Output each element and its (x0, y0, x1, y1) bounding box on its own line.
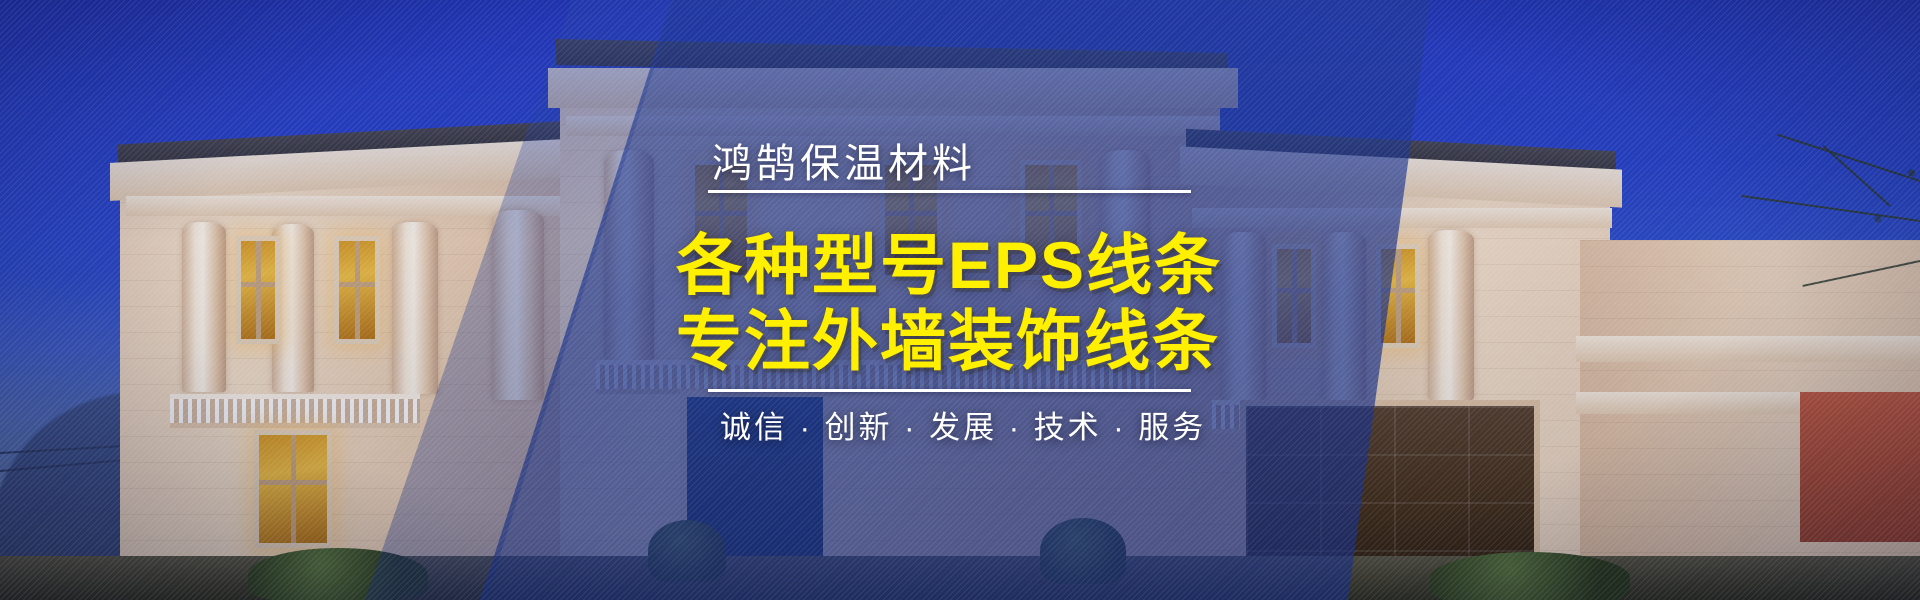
banner-content: 鸿鹄保温材料 各种型号EPS线条 专注外墙装饰线条 诚信 · 创新 · 发展 ·… (0, 0, 1920, 600)
tagline: 诚信 · 创新 · 发展 · 技术 · 服务 (720, 402, 1206, 447)
divider-top (708, 190, 1191, 193)
divider-bottom (708, 389, 1191, 392)
hero-banner: 鸿鹄保温材料 各种型号EPS线条 专注外墙装饰线条 诚信 · 创新 · 发展 ·… (0, 0, 1920, 600)
headline-line-2: 专注外墙装饰线条 (676, 288, 1220, 384)
brand-name: 鸿鹄保温材料 (712, 131, 976, 189)
